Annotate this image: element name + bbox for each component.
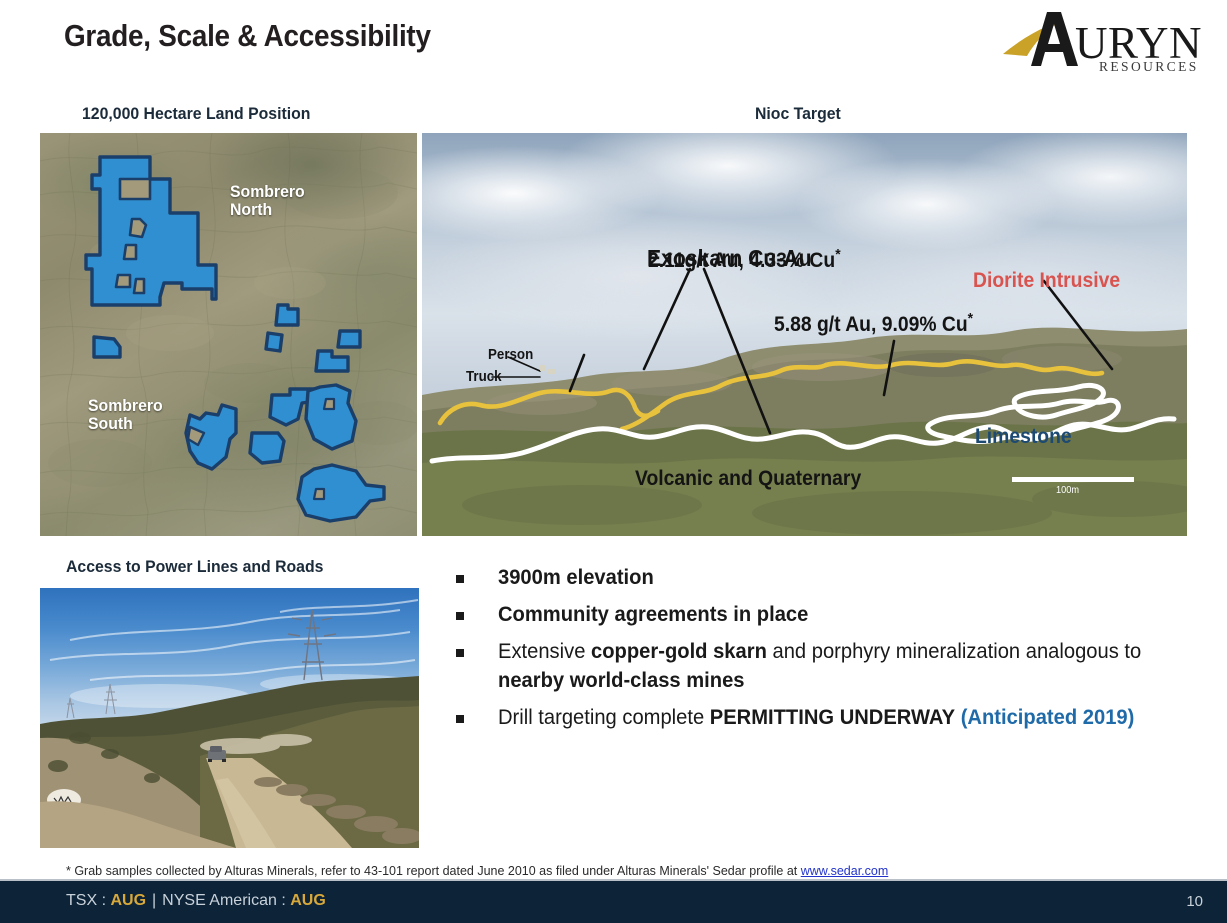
sedar-link[interactable]: www.sedar.com: [801, 864, 889, 878]
bullet-text: Community agreements in place: [498, 600, 1158, 630]
annotation-diorite: Diorite Intrusive: [973, 269, 1120, 293]
list-item: Drill targeting complete PERMITTING UNDE…: [450, 703, 1185, 733]
bullet-part: Extensive: [498, 640, 591, 663]
scale-bar-label: 100m: [1056, 485, 1079, 496]
auryn-logo: URYN RESOURCES: [1001, 8, 1213, 74]
sombrero-south-line1: Sombrero: [88, 396, 163, 415]
annotation-exoskarn-label: Exoskarn Cu-Au: [647, 245, 812, 272]
map-label-sombrero-south: Sombrero South: [88, 397, 163, 434]
nyse-ticker: AUG: [290, 892, 326, 909]
list-item: 3900m elevation: [450, 563, 1185, 593]
bullet-text: 3900m elevation: [498, 563, 1158, 593]
claim-south-mid: [250, 433, 284, 463]
annotation-person: Person: [488, 347, 533, 363]
claim-hole-2: [130, 219, 146, 237]
grade-right-text: 5.88 g/t Au, 9.09% Cu: [774, 313, 968, 336]
person-truck-marks: [540, 365, 556, 374]
bullet-text: Extensive copper-gold skarn and porphyry…: [498, 637, 1158, 697]
claim-west-small: [94, 337, 120, 357]
nioc-target-photo: 2.11g/t Au, 4.33% Cu* Person Truck .: [422, 133, 1187, 536]
bullet-part: 3900m elevation: [498, 566, 654, 589]
footnote-text: * Grab samples collected by Alturas Mine…: [66, 864, 801, 878]
map-label-sombrero-north: Sombrero North: [230, 183, 305, 220]
claim-south-right: [306, 385, 356, 449]
slide: Grade, Scale & Accessibility URYN RESOUR…: [0, 0, 1227, 923]
claim-hole-5: [134, 279, 144, 293]
logo-subtitle: RESOURCES: [1099, 59, 1199, 74]
bullet-part: copper-gold skarn: [591, 640, 767, 663]
bullet-square-icon: [456, 715, 464, 723]
list-item: Extensive copper-gold skarn and porphyry…: [450, 637, 1185, 697]
bullet-text: Drill targeting complete PERMITTING UNDE…: [498, 703, 1158, 733]
heading-land-position: 120,000 Hectare Land Position: [82, 104, 310, 124]
annotation-volcanic: Volcanic and Quaternary: [635, 467, 861, 491]
road-photo-scene: [40, 588, 419, 848]
bullet-list: 3900m elevation Community agreements in …: [450, 563, 1185, 740]
sombrero-north-line2: North: [230, 200, 272, 219]
annotation-limestone: Limestone: [975, 425, 1072, 449]
access-road-photo: [40, 588, 419, 848]
claim-south-lobe: [298, 465, 384, 521]
slide-footer: TSX : AUG|NYSE American : AUG 10: [0, 881, 1227, 923]
page-title: Grade, Scale & Accessibility: [64, 18, 431, 54]
claim-mid-3: [338, 331, 360, 347]
grade-left-star: *: [835, 246, 840, 263]
annotation-grade-right: 5.88 g/t Au, 9.09% Cu*: [774, 310, 973, 337]
ticker-line: TSX : AUG|NYSE American : AUG: [66, 892, 326, 910]
bullet-part: and porphyry mineralization analogous to: [767, 640, 1141, 663]
heading-nioc-target: Nioc Target: [755, 104, 841, 124]
annotation-truck: Truck: [466, 369, 502, 385]
rock-patch-1: [612, 370, 732, 396]
bullet-part: Community agreements in place: [498, 603, 808, 626]
heading-access: Access to Power Lines and Roads: [66, 557, 323, 577]
tsx-label: TSX :: [66, 892, 110, 909]
claim-hole-3: [124, 245, 136, 259]
bullet-part: Drill targeting complete: [498, 706, 710, 729]
footnote: * Grab samples collected by Alturas Mine…: [66, 864, 888, 878]
scale-bar-line: [1012, 477, 1134, 482]
page-number: 10: [1186, 893, 1203, 910]
sombrero-south-line2: South: [88, 414, 133, 433]
grade-right-star: *: [968, 310, 973, 327]
power-tower-main-icon: [288, 610, 336, 680]
claim-mid-1: [276, 305, 298, 325]
claim-south-lobe-hole: [314, 489, 324, 499]
bullet-square-icon: [456, 575, 464, 583]
claim-south-right-hole: [324, 399, 334, 409]
claim-hole-1: [120, 179, 150, 199]
land-position-map: Sombrero North Sombrero South: [40, 133, 417, 536]
claim-mid-4: [316, 351, 348, 371]
bullet-square-icon: [456, 649, 464, 657]
auryn-logo-svg: URYN RESOURCES: [1001, 8, 1213, 74]
sombrero-north-line1: Sombrero: [230, 182, 305, 201]
bullet-part: PERMITTING UNDERWAY: [710, 706, 955, 729]
bullet-part: nearby world-class mines: [498, 669, 745, 692]
claim-mid-2: [266, 333, 282, 351]
list-item: Community agreements in place: [450, 600, 1185, 630]
claim-polygons: [40, 133, 417, 536]
bullet-square-icon: [456, 612, 464, 620]
tsx-ticker: AUG: [110, 892, 146, 909]
claim-hole-4: [116, 275, 130, 287]
nyse-label: NYSE American :: [162, 892, 290, 909]
ticker-separator: |: [146, 892, 162, 909]
leader-exoskarn-left: [644, 269, 690, 369]
bullet-part-highlight: (Anticipated 2019): [961, 706, 1135, 729]
